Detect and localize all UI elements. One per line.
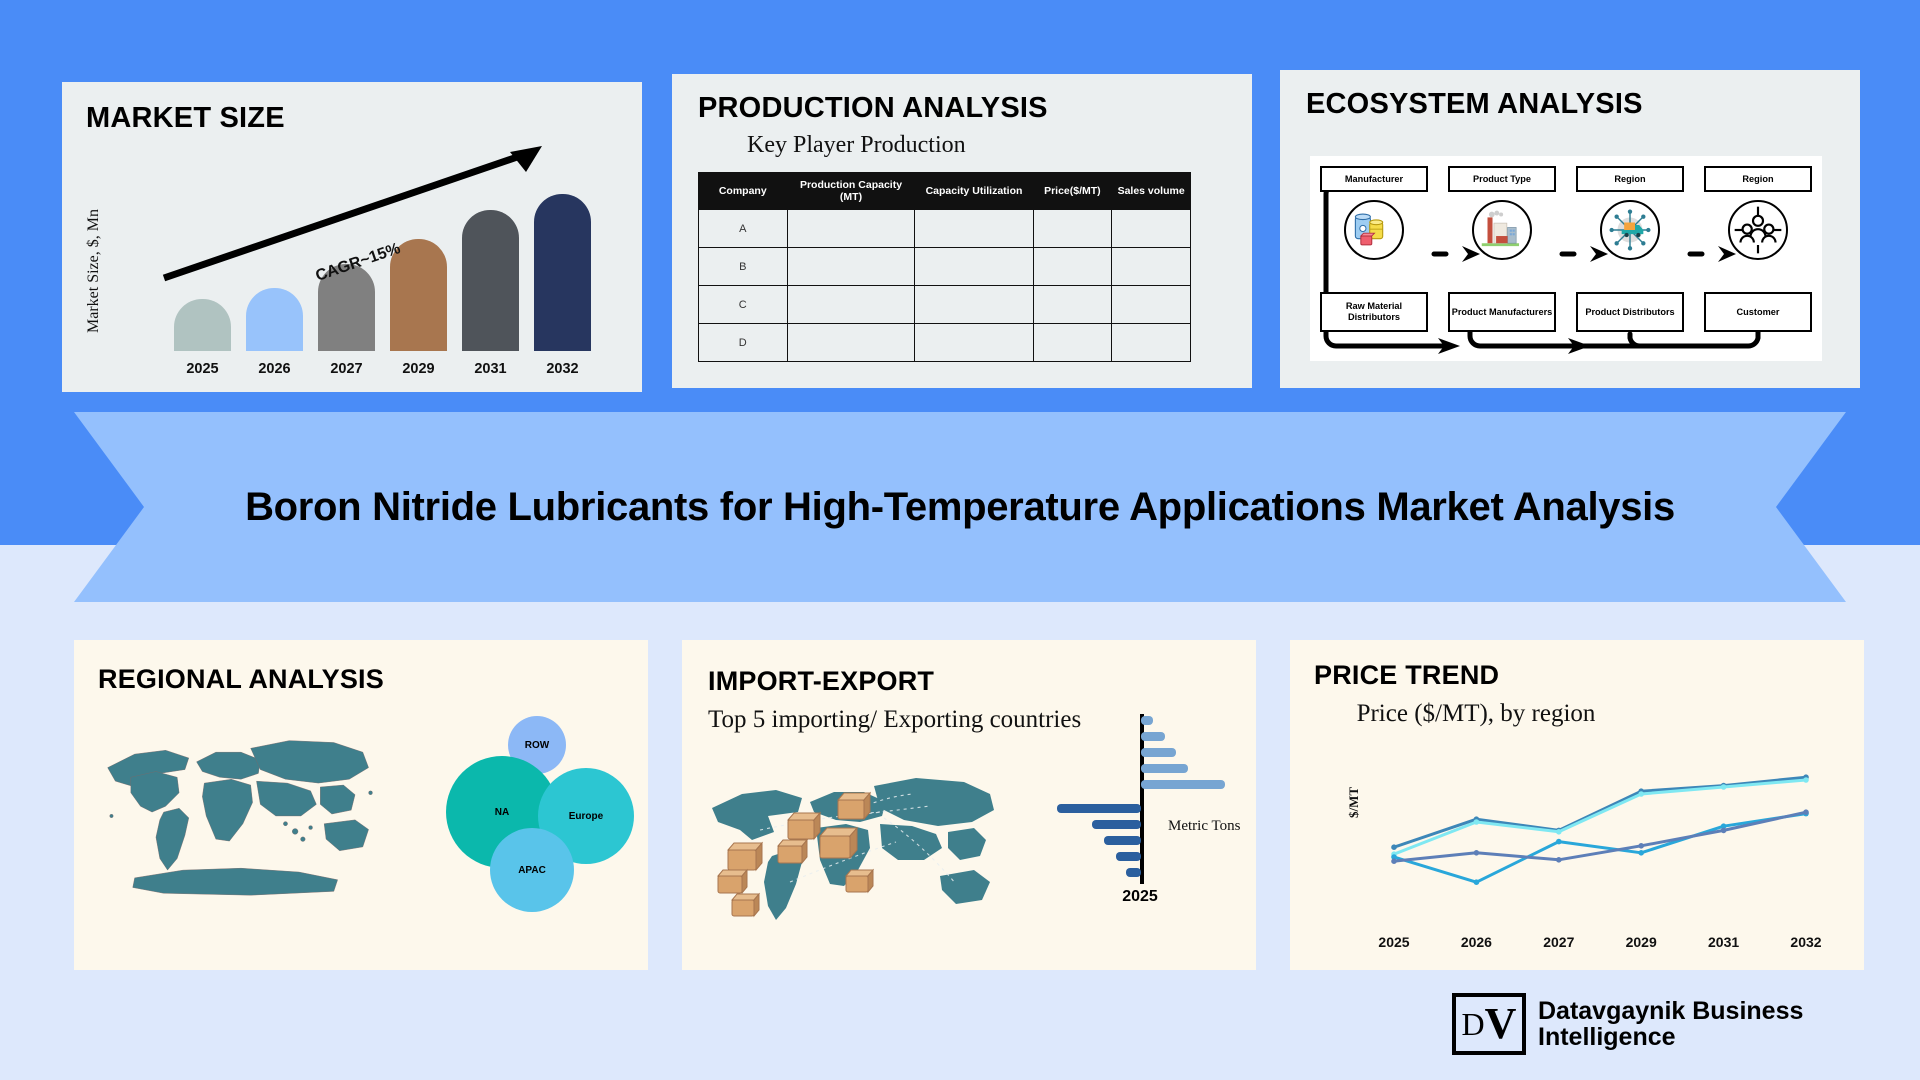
market-size-year-label: 2029	[390, 361, 447, 377]
tornado-bar-export	[1141, 780, 1225, 789]
tornado-bar-import	[1057, 804, 1141, 813]
logo-letter-v: V	[1485, 1004, 1517, 1044]
price-trend-subtitle: Price ($/MT), by region	[1346, 698, 1606, 729]
ecosystem-bottom-label: Product Distributors	[1576, 292, 1684, 332]
table-cell[interactable]	[1033, 210, 1112, 248]
price-trend-x-label: 2027	[1528, 934, 1590, 950]
price-trend-x-label: 2026	[1445, 934, 1507, 950]
tornado-bar-export	[1141, 748, 1176, 757]
ecosystem-bottom-label: Product Manufacturers	[1448, 292, 1556, 332]
tornado-unit-label: Metric Tons	[1168, 818, 1240, 835]
tornado-bar-export	[1141, 764, 1188, 773]
table-cell[interactable]	[787, 324, 915, 362]
table-row[interactable]: D	[699, 324, 1191, 362]
factory-icon	[1472, 200, 1532, 260]
market-size-year-label: 2025	[174, 361, 231, 377]
market-size-year-label: 2027	[318, 361, 375, 377]
import-export-tornado-chart: 2025 Metric Tons	[1042, 710, 1242, 910]
market-size-bar	[534, 194, 591, 351]
production-analysis-panel: PRODUCTION ANALYSIS Key Player Productio…	[672, 74, 1252, 388]
ecosystem-top-label: Region	[1704, 166, 1812, 192]
market-size-panel: MARKET SIZE Market Size, $, Mn 202520262…	[62, 82, 642, 392]
ecosystem-bottom-label: Raw Material Distributors	[1320, 292, 1428, 332]
ecosystem-bottom-label: Customer	[1704, 292, 1812, 332]
table-cell[interactable]	[915, 210, 1033, 248]
tornado-bar-import	[1126, 868, 1141, 877]
price-trend-title: PRICE TREND	[1314, 660, 1499, 691]
tornado-bar-import	[1116, 852, 1141, 861]
import-export-panel: IMPORT-EXPORT Top 5 importing/ Exporting…	[682, 640, 1256, 970]
region-bubble-apac[interactable]: APAC	[490, 828, 574, 912]
table-cell[interactable]	[1112, 210, 1191, 248]
company-logo: D V Datavgaynik Business Intelligence	[1452, 988, 1862, 1060]
table-cell[interactable]	[787, 210, 915, 248]
table-column-header: Capacity Utilization	[915, 173, 1033, 210]
regional-share-bubbles: ROWNAEuropeAPAC	[446, 716, 636, 916]
table-cell[interactable]	[1033, 324, 1112, 362]
world-map-icon	[96, 720, 386, 910]
price-trend-x-label: 2031	[1693, 934, 1755, 950]
logo-line-2: Intelligence	[1538, 1024, 1803, 1050]
ecosystem-analysis-panel: ECOSYSTEM ANALYSIS ManufacturerRaw Mater…	[1280, 70, 1860, 388]
import-export-subtitle: Top 5 importing/ Exporting countries	[708, 706, 1081, 734]
table-column-header: Price($/MT)	[1033, 173, 1112, 210]
price-trend-panel: PRICE TREND Price ($/MT), by region $/MT…	[1290, 640, 1864, 970]
logo-letter-d: D	[1462, 1006, 1485, 1043]
table-cell[interactable]: A	[699, 210, 788, 248]
table-cell[interactable]	[787, 286, 915, 324]
table-cell[interactable]	[915, 286, 1033, 324]
key-player-production-table: CompanyProduction Capacity (MT)Capacity …	[698, 172, 1191, 362]
market-size-bar	[462, 210, 519, 351]
table-cell[interactable]	[1112, 248, 1191, 286]
regional-title: REGIONAL ANALYSIS	[98, 664, 384, 695]
price-trend-series	[1352, 760, 1822, 950]
table-cell[interactable]	[1033, 248, 1112, 286]
tornado-bar-export	[1141, 732, 1165, 741]
trade-routes-map-icon	[698, 758, 1018, 938]
table-cell[interactable]	[1033, 286, 1112, 324]
customers-icon	[1728, 200, 1788, 260]
market-size-bar	[246, 288, 303, 351]
table-column-header: Production Capacity (MT)	[787, 173, 915, 210]
market-size-year-label: 2026	[246, 361, 303, 377]
market-size-year-label: 2032	[534, 361, 591, 377]
market-size-year-label: 2031	[462, 361, 519, 377]
market-size-title: MARKET SIZE	[86, 102, 285, 135]
table-header-row: CompanyProduction Capacity (MT)Capacity …	[699, 173, 1191, 210]
table-body: ABCD	[699, 210, 1191, 362]
tornado-bar-import	[1092, 820, 1141, 829]
logo-wordmark: Datavgaynik Business Intelligence	[1538, 998, 1803, 1051]
table-cell[interactable]	[787, 248, 915, 286]
ecosystem-top-label: Manufacturer	[1320, 166, 1428, 192]
table-cell[interactable]: C	[699, 286, 788, 324]
import-export-title: IMPORT-EXPORT	[708, 666, 934, 697]
table-row[interactable]: B	[699, 248, 1191, 286]
table-column-header: Company	[699, 173, 788, 210]
tornado-bar-export	[1141, 716, 1153, 725]
table-cell[interactable]	[1112, 286, 1191, 324]
bar-fill	[174, 299, 231, 351]
logo-mark-icon: D V	[1452, 993, 1526, 1055]
bar-fill	[462, 210, 519, 351]
tornado-year-label: 2025	[1090, 888, 1190, 906]
price-trend-x-label: 2029	[1610, 934, 1672, 950]
tornado-bar-import	[1104, 836, 1141, 845]
table-cell[interactable]	[915, 248, 1033, 286]
distribution-network-icon	[1600, 200, 1660, 260]
production-title: PRODUCTION ANALYSIS	[698, 92, 1048, 125]
market-size-plot: 202520262027202920312032	[174, 162, 624, 377]
ecosystem-title: ECOSYSTEM ANALYSIS	[1306, 88, 1643, 121]
regional-analysis-panel: REGIONAL ANALYSIS ROWNAEuropeAPAC	[74, 640, 648, 970]
table-row[interactable]: C	[699, 286, 1191, 324]
ecosystem-top-label: Product Type	[1448, 166, 1556, 192]
table-cell[interactable]: D	[699, 324, 788, 362]
bar-fill	[534, 194, 591, 351]
table-column-header: Sales volume	[1112, 173, 1191, 210]
chemical-drums-icon	[1344, 200, 1404, 260]
ecosystem-flow-diagram: ManufacturerRaw Material DistributorsPro…	[1310, 156, 1822, 361]
market-size-bar	[174, 299, 231, 351]
price-trend-x-label: 2032	[1775, 934, 1837, 950]
price-trend-line-chart: $/MT 202520262027202920312032	[1352, 760, 1822, 950]
report-title: Boron Nitride Lubricants for High-Temper…	[245, 485, 1675, 530]
production-subtitle: Key Player Production	[747, 132, 966, 159]
table-cell[interactable]	[915, 324, 1033, 362]
logo-line-1: Datavgaynik Business	[1538, 998, 1803, 1024]
table-cell[interactable]: B	[699, 248, 788, 286]
bar-fill	[246, 288, 303, 351]
ecosystem-top-label: Region	[1576, 166, 1684, 192]
table-row[interactable]: A	[699, 210, 1191, 248]
table-cell[interactable]	[1112, 324, 1191, 362]
price-trend-x-label: 2025	[1363, 934, 1425, 950]
main-title-banner: Boron Nitride Lubricants for High-Temper…	[74, 412, 1846, 602]
market-size-y-axis-label: Market Size, $, Mn	[85, 191, 103, 351]
